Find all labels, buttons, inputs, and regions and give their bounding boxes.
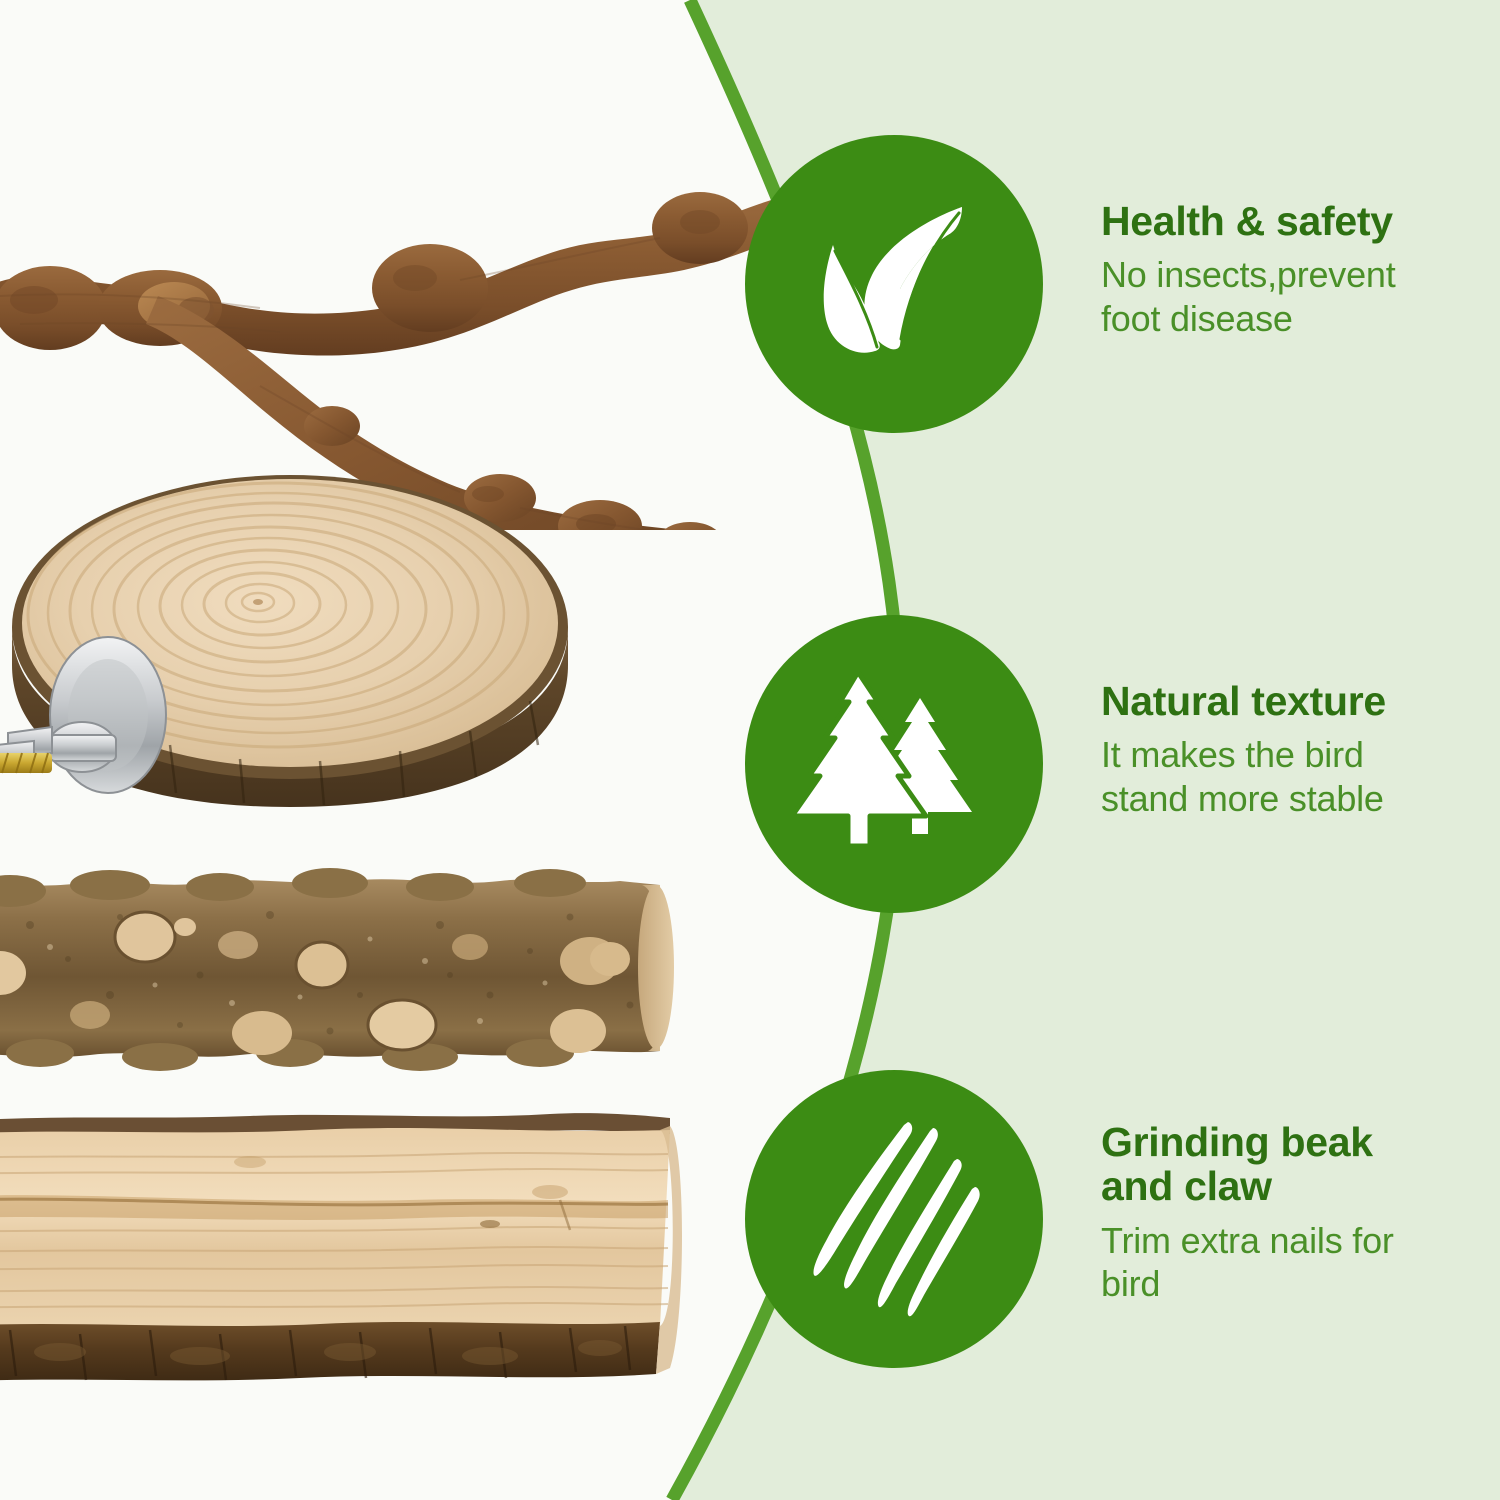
feature-text-1: Health & safety No insects,prevent foot …: [1101, 135, 1500, 341]
feature-description-1: No insects,prevent foot disease: [1101, 253, 1500, 341]
knobby-bark-log-perch: [0, 855, 700, 1085]
feature-list: Health & safety No insects,prevent foot …: [735, 0, 1500, 1500]
feature-description-2: It makes the bird stand more stable: [1101, 733, 1500, 821]
two-leaves-icon: [799, 189, 989, 379]
claw-scratch-marks-icon: [794, 1119, 994, 1319]
feature-badge-2: [745, 615, 1043, 913]
feature-title-2: Natural texture: [1101, 679, 1500, 723]
two-pine-trees-icon: [794, 664, 994, 864]
feature-item-grinding-beak-claw: Grinding beak and claw Trim extra nails …: [745, 1070, 1500, 1368]
feature-title-1: Health & safety: [1101, 199, 1500, 243]
product-photo-area: [0, 0, 760, 1500]
feature-description-3: Trim extra nails for bird: [1101, 1219, 1500, 1307]
feature-text-3: Grinding beak and claw Trim extra nails …: [1101, 1070, 1500, 1306]
feature-item-natural-texture: Natural texture It makes the bird stand …: [745, 615, 1500, 913]
feature-badge-1: [745, 135, 1043, 433]
feature-badge-3: [745, 1070, 1043, 1368]
wood-disc-perch-with-screw-mount: [0, 415, 590, 815]
feature-title-3: Grinding beak and claw: [1101, 1120, 1500, 1209]
feature-text-2: Natural texture It makes the bird stand …: [1101, 615, 1500, 821]
product-infographic: Health & safety No insects,prevent foot …: [0, 0, 1500, 1500]
feature-item-health-safety: Health & safety No insects,prevent foot …: [745, 135, 1500, 433]
flat-wood-plank-with-bark-edge: [0, 1100, 710, 1400]
